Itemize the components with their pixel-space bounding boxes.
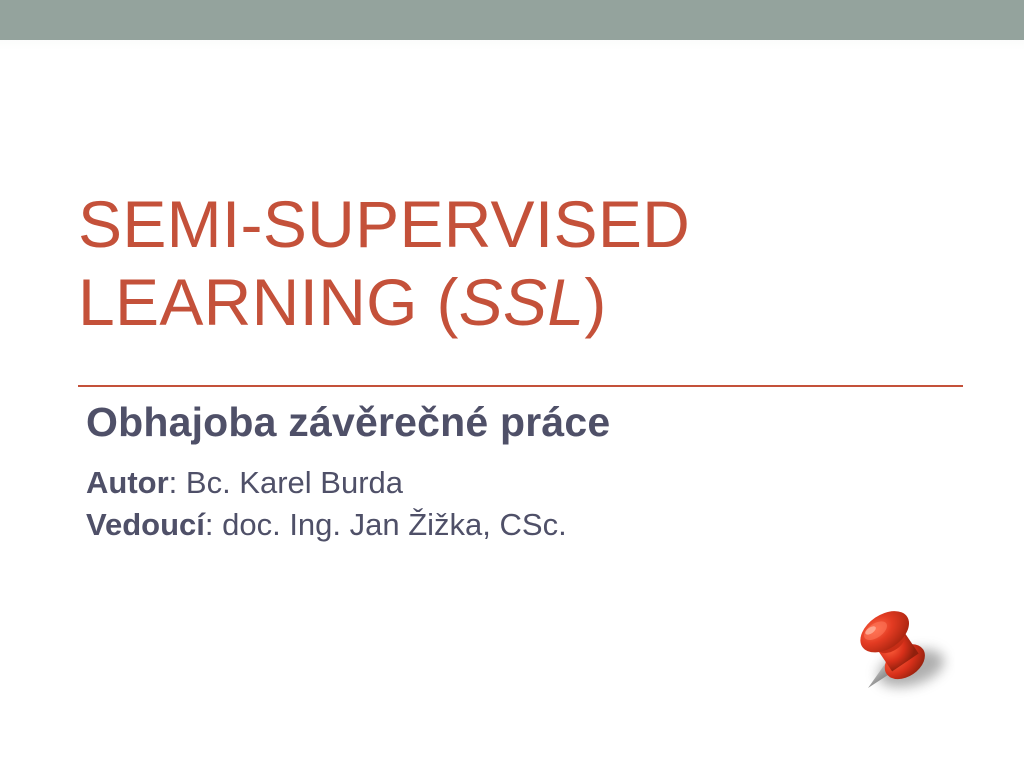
credit-line-author: Autor: Bc. Karel Burda [86, 462, 966, 503]
credit-label-author: Autor [86, 465, 169, 500]
credit-value-author: Bc. Karel Burda [186, 465, 403, 500]
title-line-2-suffix: ) [584, 265, 606, 339]
credit-value-supervisor: doc. Ing. Jan Žižka, CSc. [222, 507, 567, 542]
pushpin-icon [845, 608, 955, 703]
title-divider-rule [78, 385, 963, 387]
title-abbreviation-ssl: SSL [459, 265, 585, 339]
credit-label-supervisor: Vedoucí [86, 507, 205, 542]
credit-separator-author: : [169, 465, 186, 500]
title-line-2-prefix: LEARNING ( [78, 265, 459, 339]
credits-list: Autor: Bc. Karel Burda Vedoucí: doc. Ing… [86, 462, 966, 544]
credit-separator-supervisor: : [205, 507, 222, 542]
slide-subtitle: Obhajoba závěrečné práce [86, 398, 966, 446]
page-title: SEMI-SUPERVISED LEARNING (SSL) [78, 186, 968, 342]
top-band-fade [0, 40, 1024, 50]
top-band-decoration [0, 0, 1024, 40]
body-block: Obhajoba závěrečné práce Autor: Bc. Kare… [86, 398, 966, 545]
credit-line-supervisor: Vedoucí: doc. Ing. Jan Žižka, CSc. [86, 504, 966, 545]
presentation-slide: SEMI-SUPERVISED LEARNING (SSL) Obhajoba … [0, 0, 1024, 768]
title-line-1: SEMI-SUPERVISED [78, 187, 690, 261]
title-block: SEMI-SUPERVISED LEARNING (SSL) [78, 186, 968, 342]
